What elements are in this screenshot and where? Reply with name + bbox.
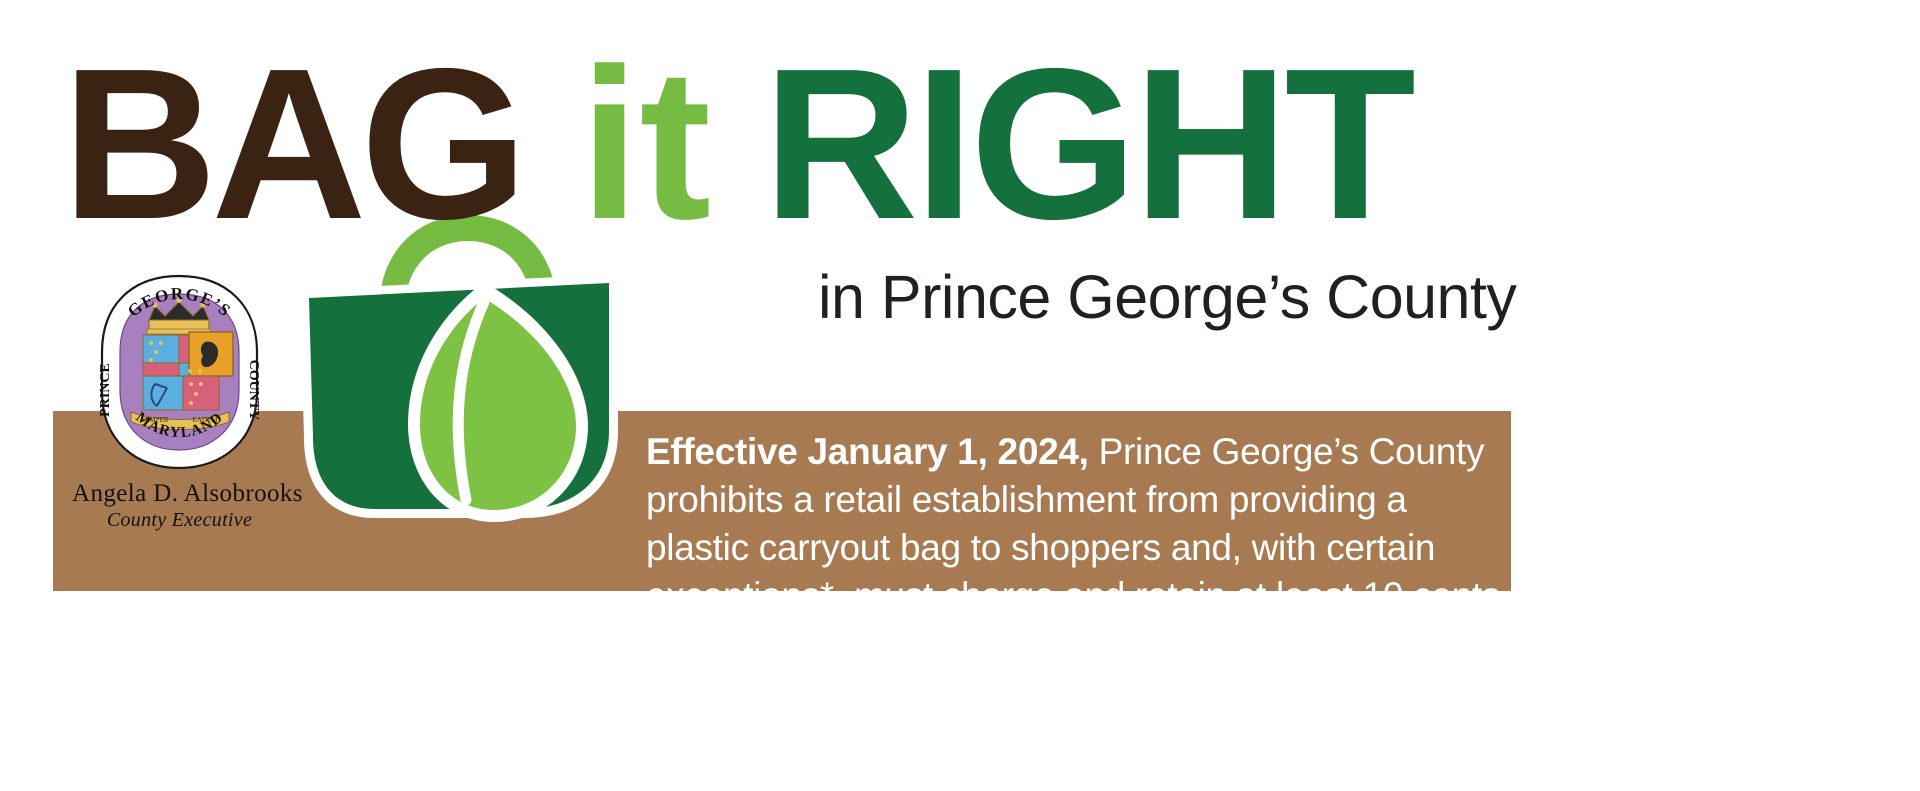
seal-arc-county: COUNTY (246, 360, 261, 421)
seal-arc-prince: PRINCE (98, 363, 113, 417)
county-executive-title: County Executive (72, 509, 287, 532)
headline-word-bag: BAG (62, 23, 522, 264)
page-title: BAGitRIGHT (62, 36, 1412, 251)
poster-canvas: BAGitRIGHT in Prince George’s County (0, 0, 1920, 791)
county-executive-name: Angela D. Alsobrooks (72, 480, 287, 508)
headline-word-it: it (580, 23, 711, 264)
effective-date-paragraph: Effective January 1, 2024, Prince George… (646, 428, 1506, 716)
prince-georges-county-seal-icon: SEMPER EADEM GEORGE’S MARYLAND PRINCE CO… (87, 272, 272, 472)
paragraph-bold-lead: Effective January 1, 2024, (646, 431, 1089, 472)
page-subtitle: in Prince George’s County (818, 262, 1516, 332)
headline-word-right: RIGHT (763, 23, 1412, 264)
paragraph-body-text: Prince George’s County prohibits a retai… (646, 431, 1504, 712)
county-seal-block: SEMPER EADEM GEORGE’S MARYLAND PRINCE CO… (72, 272, 287, 532)
